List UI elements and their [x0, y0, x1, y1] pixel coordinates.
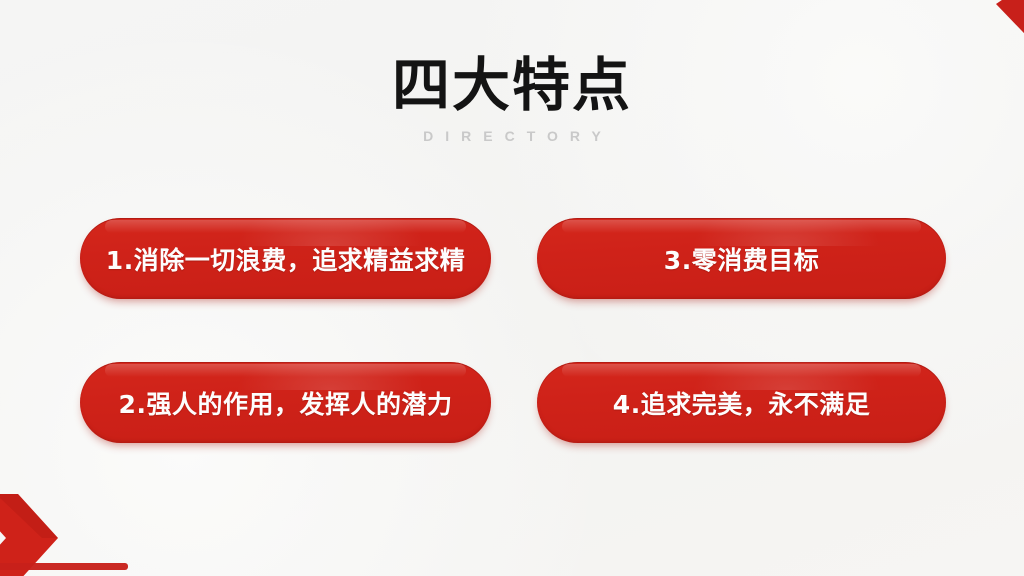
feature-pill-label: 2.强人的作用，发挥人的潜力 — [119, 385, 453, 421]
page-subtitle: DIRECTORY — [0, 128, 1024, 144]
feature-pill-4[interactable]: 4.追求完美，永不满足 — [537, 362, 946, 443]
feature-pill-grid: 1.消除一切浪费，追求精益求精 3.零消费目标 2.强人的作用，发挥人的潜力 4… — [80, 218, 946, 444]
feature-pill-3[interactable]: 3.零消费目标 — [537, 218, 946, 299]
feature-pill-1[interactable]: 1.消除一切浪费，追求精益求精 — [80, 218, 491, 299]
feature-pill-label: 4.追求完美，永不满足 — [613, 385, 870, 421]
slide-canvas: 四大特点 DIRECTORY 1.消除一切浪费，追求精益求精 3.零消费目标 2… — [0, 0, 1024, 576]
feature-pill-2[interactable]: 2.强人的作用，发挥人的潜力 — [80, 362, 491, 443]
corner-decoration-bottom-left-icon — [0, 488, 156, 576]
feature-pill-label: 3.零消费目标 — [664, 241, 819, 277]
feature-pill-label: 1.消除一切浪费，追求精益求精 — [106, 241, 465, 277]
slide-header: 四大特点 DIRECTORY — [0, 54, 1024, 144]
corner-decoration-top-right-icon — [956, 0, 1024, 56]
accent-bar-bottom-left — [0, 563, 128, 570]
page-title: 四大特点 — [0, 54, 1024, 117]
